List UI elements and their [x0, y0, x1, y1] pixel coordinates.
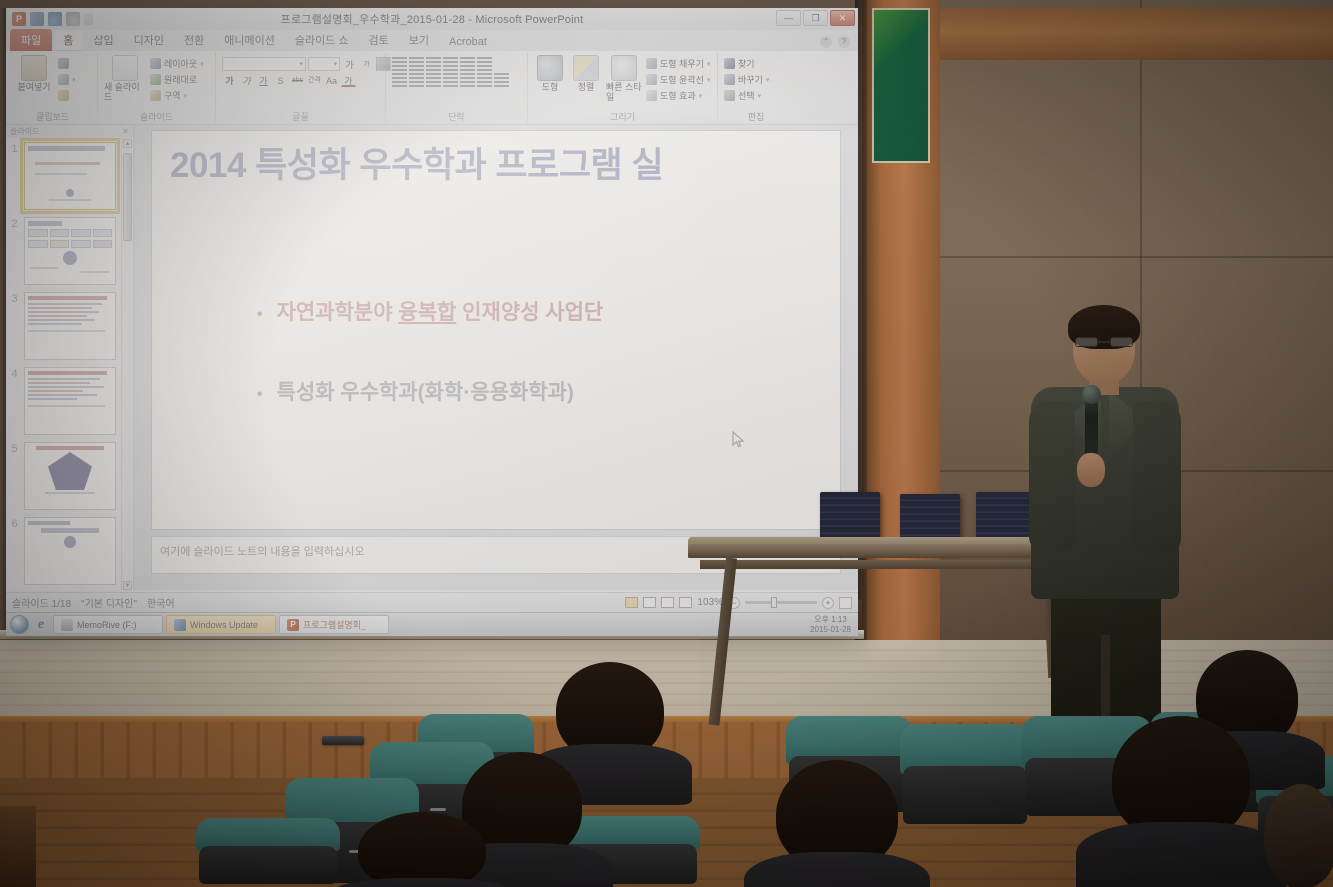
strikethrough-button[interactable]: abc [290, 73, 305, 87]
ribbon-group-slides: 새 슬라이드 레이아웃 ▾ 원래대로 [98, 53, 216, 124]
taskbar-item-label: Windows Update [190, 620, 258, 630]
bullet-1-text-before: 자연과학분야 [277, 301, 399, 324]
slide-bullet-1[interactable]: • 자연과학분야 융복합 인재양성 사업단 [257, 296, 603, 326]
minimize-button[interactable]: — [776, 10, 801, 26]
ribbon[interactable]: 붙여넣기 ▾ [6, 51, 858, 125]
group-label-drawing: 그리기 [528, 110, 717, 123]
replace-label: 바꾸기 [738, 73, 763, 86]
font-size-combo[interactable] [308, 57, 340, 71]
thumbnail-slide-1[interactable] [24, 142, 116, 210]
font-color-button[interactable]: 가 [341, 73, 356, 87]
slide-counter: 슬라이드 1/18 [12, 595, 71, 610]
system-tray[interactable]: 오후 1:13 2015-01-28 [810, 615, 854, 633]
seat [196, 818, 340, 887]
auditorium-scene: P 프로그램설명회_우수학과_2015-01-28 - Microsoft Po… [0, 0, 1333, 887]
bold-button[interactable]: 가 [222, 73, 237, 87]
group-label-font: 글꼴 [216, 110, 385, 123]
taskbar-windows-update[interactable]: Windows Update [166, 615, 276, 634]
slide-thumbnail-pane[interactable]: 슬라이드 ✕ 1 [6, 125, 134, 590]
chevron-down-icon[interactable]: ▾ [707, 60, 711, 68]
audience-member [776, 760, 898, 870]
layout-icon [150, 58, 161, 69]
thumbnail-list[interactable]: 1 [6, 138, 133, 590]
binoculars-icon [724, 58, 735, 69]
seat [900, 724, 1030, 828]
wall-seam [938, 256, 1333, 258]
ribbon-group-font: 가 가 가 가 가 S abc 간격 Aa [216, 53, 386, 124]
arrange-icon [573, 55, 599, 81]
close-pane-icon[interactable]: ✕ [122, 127, 129, 136]
columns-icon[interactable] [460, 73, 475, 87]
audience-member [1264, 784, 1333, 887]
slide-editing-area[interactable]: 2014 특성화 우수학과 프로그램 실 • 자연과학분야 융복합 인재양성 사… [134, 125, 858, 590]
theme-name[interactable]: "기본 디자인" [81, 595, 137, 610]
current-slide[interactable]: 2014 특성화 우수학과 프로그램 실 • 자연과학분야 융복합 인재양성 사… [151, 130, 841, 530]
bullet-marker: • [257, 307, 263, 323]
group-label-clipboard: 클립보드 [8, 110, 97, 123]
bullet-1-text-underline: 융복합 [398, 301, 456, 324]
thumbnail-item[interactable]: 2 [8, 217, 131, 285]
title-bar: P 프로그램설명회_우수학과_2015-01-28 - Microsoft Po… [6, 8, 858, 30]
tab-insert[interactable]: 삽입 [84, 30, 122, 51]
cut-button[interactable] [58, 57, 76, 70]
thumbnail-item[interactable]: 6 [8, 517, 131, 585]
drive-icon [61, 619, 73, 631]
thumbnail-slide-2[interactable] [24, 217, 116, 285]
shape-fill-icon [646, 58, 657, 69]
find-label: 찾기 [738, 57, 755, 70]
paste-label: 붙여넣기 [17, 83, 50, 93]
decrease-indent-icon[interactable] [426, 57, 441, 71]
tab-view[interactable]: 보기 [400, 30, 438, 51]
shapes-button[interactable]: 도형 [534, 55, 566, 93]
thumbnail-slide-6[interactable] [24, 517, 116, 585]
reset-button[interactable]: 원래대로 [150, 73, 204, 86]
tab-animations[interactable]: 애니메이션 [215, 30, 284, 51]
presenter-arm-right [1133, 401, 1181, 553]
zoom-in-button[interactable]: + [822, 597, 834, 609]
reading-view-icon[interactable] [661, 597, 674, 608]
reset-icon [150, 74, 161, 85]
group-label-slides: 슬라이드 [98, 110, 215, 123]
shape-fill-label: 도형 채우기 [660, 57, 704, 70]
zoom-slider[interactable] [745, 601, 817, 604]
window-controls[interactable]: — ❐ ✕ [776, 10, 855, 26]
audience-member [1112, 716, 1250, 842]
chevron-down-icon[interactable]: ▾ [707, 76, 711, 84]
paste-button[interactable]: 붙여넣기 [14, 55, 54, 93]
taskbar-item-label: 프로그램설명회_ [303, 618, 366, 631]
table-edge [688, 544, 1050, 558]
select-label: 선택 [738, 89, 755, 102]
line-spacing-icon[interactable] [460, 57, 475, 71]
shape-effects-icon [646, 90, 657, 101]
thumbnail-number: 1 [8, 142, 21, 155]
start-button-icon[interactable] [10, 615, 29, 634]
copy-icon [58, 74, 69, 85]
slide-sorter-view-icon[interactable] [643, 597, 656, 608]
zoom-level-label[interactable]: 103% [697, 597, 723, 608]
scrollbar-thumb[interactable] [123, 153, 132, 241]
shape-effects-label: 도형 효과 [660, 89, 696, 102]
green-sign [872, 8, 930, 163]
align-left-icon[interactable] [392, 73, 407, 87]
italic-button[interactable]: 가 [239, 73, 254, 87]
slide-title[interactable]: 2014 특성화 우수학과 프로그램 실 [170, 137, 840, 188]
help-icon[interactable]: ? [838, 36, 850, 48]
internet-explorer-icon[interactable]: e [32, 616, 50, 634]
reset-label: 원래대로 [164, 73, 197, 86]
grow-font-button[interactable]: 가 [342, 57, 357, 71]
quick-styles-button[interactable]: 빠른 스타일 [606, 55, 642, 103]
ribbon-group-clipboard: 붙여넣기 ▾ [8, 53, 98, 124]
taskbar-clock[interactable]: 오후 1:13 2015-01-28 [810, 615, 851, 633]
slide-bullet-2[interactable]: • 특성화 우수학과(화학·응용화학과) [257, 376, 574, 406]
select-button[interactable]: 선택 ▾ [724, 89, 769, 102]
collapse-ribbon-icon[interactable]: ⌃ [820, 36, 832, 48]
align-right-icon[interactable] [426, 73, 441, 87]
thumbnail-number: 4 [8, 367, 21, 380]
taskbar-item-label: MemoRive (F:) [77, 620, 137, 630]
tab-acrobat[interactable]: Acrobat [440, 34, 496, 51]
chevron-down-icon[interactable]: ▾ [72, 76, 76, 84]
select-icon [724, 90, 735, 101]
group-label-editing: 편집 [718, 110, 794, 123]
thumbnail-number: 2 [8, 217, 21, 230]
numbering-icon[interactable] [409, 57, 424, 71]
audience-member [556, 662, 664, 760]
tab-design[interactable]: 디자인 [125, 30, 173, 51]
close-button[interactable]: ✕ [830, 10, 855, 26]
section-button[interactable]: 구역 ▾ [150, 89, 204, 102]
thumbnail-item[interactable]: 3 [8, 292, 131, 360]
ribbon-tabbar-right[interactable]: ⌃ ? [820, 36, 850, 48]
scroll-down-icon[interactable]: ▼ [123, 581, 132, 590]
tab-home[interactable]: 홈 [54, 30, 82, 51]
audience-member [358, 812, 486, 887]
workspace: 슬라이드 ✕ 1 [6, 125, 858, 590]
shrink-font-button[interactable]: 가 [359, 57, 374, 71]
convert-smartart-icon[interactable] [494, 73, 509, 87]
clock-date: 2015-01-28 [810, 625, 851, 634]
scissors-icon [58, 58, 69, 69]
ribbon-group-paragraph: 단락 [386, 53, 528, 124]
normal-view-icon[interactable] [625, 597, 638, 608]
ceiling-beam [938, 8, 1333, 60]
taskbar-memorive-drive[interactable]: MemoRive (F:) [53, 615, 163, 634]
ribbon-group-drawing: 도형 정렬 빠른 스타일 도형 [528, 53, 718, 124]
shape-fill-button[interactable]: 도형 채우기 ▾ [646, 57, 710, 70]
format-painter-button[interactable] [58, 89, 76, 102]
thumbnail-tab-label[interactable]: 슬라이드 [10, 126, 39, 137]
thumbnail-pane-header: 슬라이드 ✕ [6, 125, 133, 138]
bullets-icon[interactable] [392, 57, 407, 71]
windows-icon [174, 619, 186, 631]
section-label: 구역 [164, 89, 181, 102]
table-apron [700, 560, 1050, 569]
shape-outline-label: 도형 윤곽선 [660, 73, 704, 86]
chevron-down-icon[interactable]: ▾ [200, 60, 204, 68]
ribbon-tab-bar[interactable]: 파일 홈 삽입 디자인 전환 애니메이션 슬라이드 쇼 검토 보기 Acroba… [6, 30, 858, 51]
restore-button[interactable]: ❐ [803, 10, 828, 26]
bullet-marker: • [257, 387, 263, 403]
thumbnail-number: 6 [8, 517, 21, 530]
group-label-paragraph: 단락 [386, 110, 527, 123]
microphone-head [1082, 385, 1101, 404]
arrange-label: 정렬 [578, 83, 595, 93]
presenter-arm-left [1029, 401, 1075, 551]
chevron-down-icon[interactable]: ▾ [766, 76, 770, 84]
thumbnail-number: 3 [8, 292, 21, 305]
align-text-icon[interactable] [477, 73, 492, 87]
taskbar-powerpoint[interactable]: P 프로그램설명회_ [279, 615, 389, 634]
presenter-leg-gap [1101, 635, 1110, 727]
find-button[interactable]: 찾기 [724, 57, 769, 70]
thumbnail-number: 5 [8, 442, 21, 455]
copy-button[interactable]: ▾ [58, 73, 76, 86]
powerpoint-icon: P [287, 619, 299, 631]
notes-placeholder: 여기에 슬라이드 노트의 내용을 입력하십시오 [160, 546, 365, 558]
thumbnail-slide-3[interactable] [24, 292, 116, 360]
ribbon-group-editing: 찾기 바꾸기 ▾ 선택 ▾ [718, 53, 794, 124]
character-spacing-button[interactable]: 간격 [307, 73, 322, 87]
status-bar-right[interactable]: 103% − + [625, 597, 852, 609]
tab-review[interactable]: 검토 [360, 30, 398, 51]
fit-slide-to-window-button[interactable] [839, 597, 852, 609]
presenter [1015, 305, 1190, 725]
thumbnail-slide-5[interactable] [24, 442, 116, 510]
zoom-slider-handle[interactable] [771, 597, 777, 608]
section-icon [150, 90, 161, 101]
font-name-combo[interactable] [222, 57, 306, 71]
thumbnail-item[interactable]: 5 [8, 442, 131, 510]
new-slide-button[interactable]: 새 슬라이드 [104, 55, 146, 103]
quick-styles-label: 빠른 스타일 [606, 83, 642, 103]
increase-indent-icon[interactable] [443, 57, 458, 71]
chevron-down-icon[interactable]: ▾ [699, 92, 703, 100]
bullet-1-text-after: 인재양성 사업단 [456, 301, 603, 324]
thumbnail-item[interactable]: 4 [8, 367, 131, 435]
tab-file[interactable]: 파일 [10, 29, 52, 51]
shape-outline-button[interactable]: 도형 윤곽선 ▾ [646, 73, 710, 86]
shapes-label: 도형 [542, 83, 559, 93]
replace-icon [724, 74, 735, 85]
presenter-hand [1077, 453, 1105, 487]
slide-show-view-icon[interactable] [679, 597, 692, 608]
shapes-icon [537, 55, 563, 81]
bullet-2-text: 특성화 우수학과(화학·응용화학과) [277, 376, 574, 406]
tab-slideshow[interactable]: 슬라이드 쇼 [286, 30, 358, 51]
window-title: 프로그램설명회_우수학과_2015-01-28 - Microsoft Powe… [6, 11, 858, 27]
shape-effects-button[interactable]: 도형 효과 ▾ [646, 89, 710, 102]
paste-icon [21, 55, 47, 81]
thumbnail-item[interactable]: 1 [8, 142, 131, 210]
underline-button[interactable]: 가 [256, 73, 271, 87]
shape-outline-icon [646, 74, 657, 85]
language-indicator[interactable]: 한국어 [147, 595, 175, 610]
thumbnail-scrollbar[interactable]: ▲ ▼ [121, 139, 132, 590]
thumbnail-slide-4[interactable] [24, 367, 116, 435]
tab-transitions[interactable]: 전환 [175, 30, 213, 51]
new-slide-label: 새 슬라이드 [104, 83, 146, 103]
align-center-icon[interactable] [409, 73, 424, 87]
arrange-button[interactable]: 정렬 [570, 55, 602, 93]
change-case-button[interactable]: Aa [324, 73, 339, 87]
justify-icon[interactable] [443, 73, 458, 87]
chevron-down-icon[interactable]: ▾ [184, 92, 188, 100]
text-shadow-button[interactable]: S [273, 73, 288, 87]
quick-styles-icon [611, 55, 637, 81]
side-cabinet [0, 806, 36, 887]
layout-label: 레이아웃 [164, 57, 197, 70]
paintbrush-icon [58, 90, 69, 101]
replace-button[interactable]: 바꾸기 ▾ [724, 73, 769, 86]
layout-button[interactable]: 레이아웃 ▾ [150, 57, 204, 70]
chevron-down-icon[interactable]: ▾ [758, 92, 762, 100]
presentation-remote [322, 736, 364, 745]
new-slide-icon [112, 55, 138, 81]
scroll-up-icon[interactable]: ▲ [123, 139, 132, 148]
clock-time: 오후 1:13 [810, 615, 851, 624]
text-direction-icon[interactable] [477, 57, 492, 71]
glasses-icon [1075, 337, 1133, 347]
